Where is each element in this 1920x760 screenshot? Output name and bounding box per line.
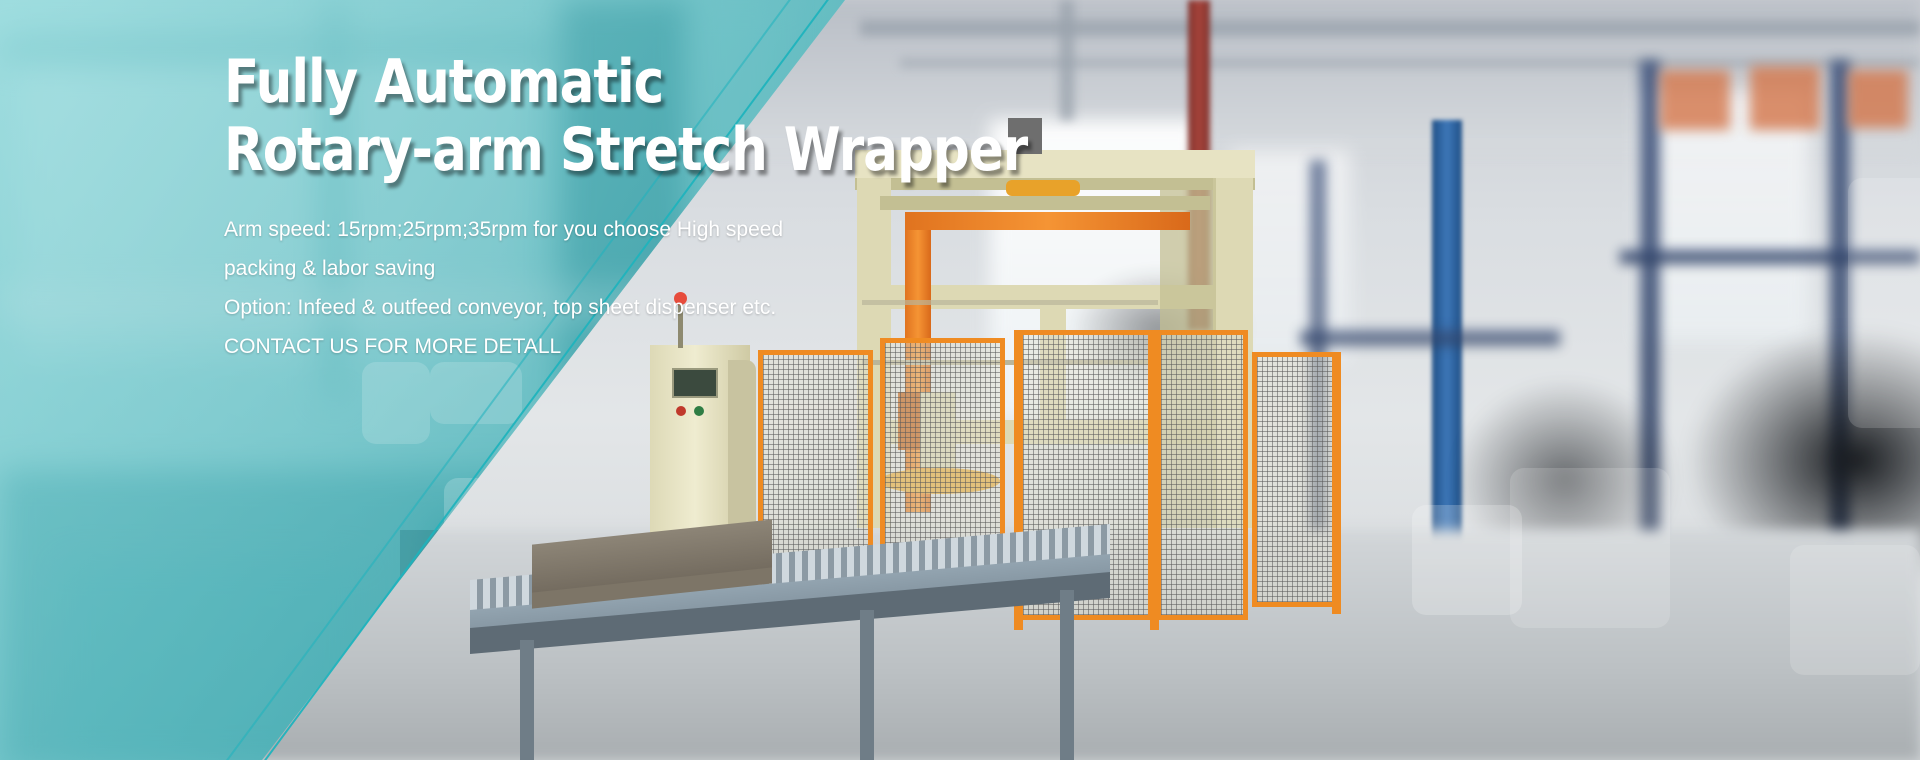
deco-square-left-1 <box>362 362 430 444</box>
ceiling-beam-a <box>860 20 1920 36</box>
ceiling-beam-c <box>1060 0 1074 120</box>
safety-cage-right-b <box>1156 330 1248 620</box>
conveyor-leg-c <box>1060 590 1074 760</box>
mid-rack-shelf <box>1300 330 1560 346</box>
body-copy: Arm speed: 15rpm;25rpm;35rpm for you cho… <box>224 210 924 366</box>
body-line-4-contact: CONTACT US FOR MORE DETALL <box>224 327 924 366</box>
body-line-2: packing & labor saving <box>224 249 924 288</box>
safety-cage-far-right <box>1252 352 1340 607</box>
deco-square-right-3 <box>1510 468 1670 628</box>
control-cabinet-side <box>728 360 756 535</box>
cabinet-display[interactable] <box>672 368 718 398</box>
conveyor-leg-a <box>520 640 534 760</box>
cage-post-c <box>1332 352 1341 614</box>
headline: Fully Automatic Rotary-arm Stretch Wrapp… <box>224 48 826 184</box>
rack-box-b <box>1750 66 1820 130</box>
headline-line-1: Fully Automatic <box>224 48 826 116</box>
deco-square-right-2 <box>1412 505 1522 615</box>
cage-post-b <box>1150 330 1159 630</box>
banner-copy: Fully Automatic Rotary-arm Stretch Wrapp… <box>224 48 924 366</box>
deco-square-right-1 <box>1848 178 1920 428</box>
cabinet-button-green[interactable] <box>694 406 704 416</box>
body-line-3: Option: Infeed & outfeed conveyor, top s… <box>224 288 924 327</box>
deco-square-right-4 <box>1790 545 1920 675</box>
rack-box-a <box>1660 70 1730 130</box>
conveyor-leg-b <box>860 610 874 760</box>
deco-square-left-2 <box>430 362 522 424</box>
machine-mast-arm <box>905 212 1190 230</box>
rack-box-c <box>1848 70 1908 128</box>
product-banner: Fully Automatic Rotary-arm Stretch Wrapp… <box>0 0 1920 760</box>
cabinet-button-red[interactable] <box>676 406 686 416</box>
machine-rear-beam <box>880 196 1210 210</box>
headline-line-2: Rotary-arm Stretch Wrapper <box>224 116 826 184</box>
body-line-1: Arm speed: 15rpm;25rpm;35rpm for you cho… <box>224 210 924 249</box>
